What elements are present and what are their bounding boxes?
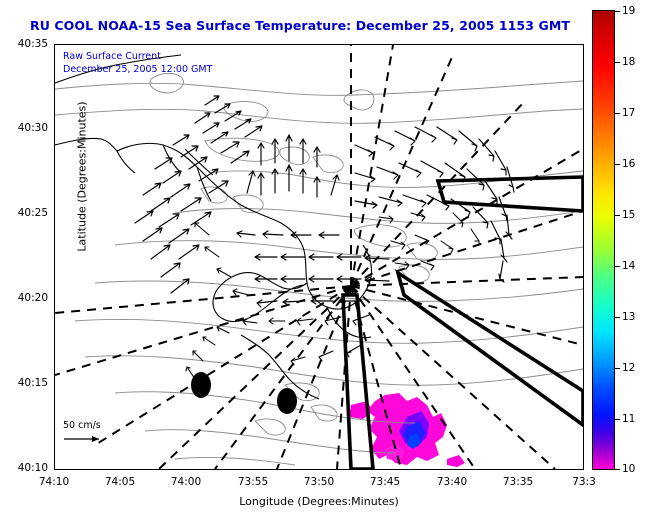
colorbar-tick-label: 12 bbox=[622, 362, 635, 374]
y-tick-label: 40:30 bbox=[2, 122, 48, 134]
bathymetry-contours bbox=[55, 73, 583, 465]
colorbar-gradient bbox=[593, 11, 614, 469]
y-tick-label: 40:15 bbox=[2, 377, 48, 389]
colorbar-tick-label: 11 bbox=[622, 413, 635, 425]
map-canvas bbox=[55, 45, 583, 469]
x-tick-label: 74:10 bbox=[26, 476, 82, 488]
scale-legend: 50 cm/s bbox=[63, 420, 107, 447]
colorbar-tick-label: 15 bbox=[622, 209, 635, 221]
x-tick-label: 73:55 bbox=[225, 476, 281, 488]
x-tick-label: 73:40 bbox=[424, 476, 480, 488]
x-tick-label: 73:3 bbox=[556, 476, 612, 488]
colorbar-tick-label: 17 bbox=[622, 107, 635, 119]
x-tick-label: 74:05 bbox=[92, 476, 148, 488]
colorbar-tick-label: 10 bbox=[622, 463, 635, 475]
colorbar-tick-label: 13 bbox=[622, 311, 635, 323]
colorbar bbox=[592, 10, 615, 470]
colorbar-tick-label: 16 bbox=[622, 158, 635, 170]
x-axis-title: Longitude (Degrees:Minutes) bbox=[54, 495, 584, 508]
colorbar-tick-label: 19 bbox=[622, 5, 635, 17]
arrow-right-icon bbox=[63, 433, 107, 444]
figure-title: RU COOL NOAA-15 Sea Surface Temperature:… bbox=[0, 18, 600, 33]
x-tick-label: 74:00 bbox=[158, 476, 214, 488]
annotation-line-1: Raw Surface Current bbox=[63, 50, 212, 63]
coastline bbox=[55, 55, 372, 399]
colorbar-tick-label: 18 bbox=[622, 56, 635, 68]
scale-legend-label: 50 cm/s bbox=[63, 420, 107, 431]
colorbar-tick-label: 14 bbox=[622, 260, 635, 272]
annotation-block: Raw Surface Current December 25, 2005 12… bbox=[63, 50, 212, 76]
y-tick-label: 40:10 bbox=[2, 462, 48, 474]
map-plot-area[interactable]: Raw Surface Current December 25, 2005 12… bbox=[54, 44, 584, 470]
y-axis-title: Latitude (Degrees:Minutes) bbox=[76, 87, 89, 267]
annotation-line-2: December 25, 2005 12:00 GMT bbox=[63, 63, 212, 76]
y-tick-label: 40:25 bbox=[2, 207, 48, 219]
station-markers bbox=[191, 372, 297, 414]
sst-map-figure: RU COOL NOAA-15 Sea Surface Temperature:… bbox=[0, 0, 651, 519]
x-tick-label: 73:45 bbox=[357, 476, 413, 488]
y-tick-label: 40:35 bbox=[2, 38, 48, 50]
x-tick-label: 73:50 bbox=[291, 476, 347, 488]
surface-current-vectors bbox=[135, 96, 514, 379]
y-tick-label: 40:20 bbox=[2, 292, 48, 304]
x-tick-label: 73:35 bbox=[490, 476, 546, 488]
